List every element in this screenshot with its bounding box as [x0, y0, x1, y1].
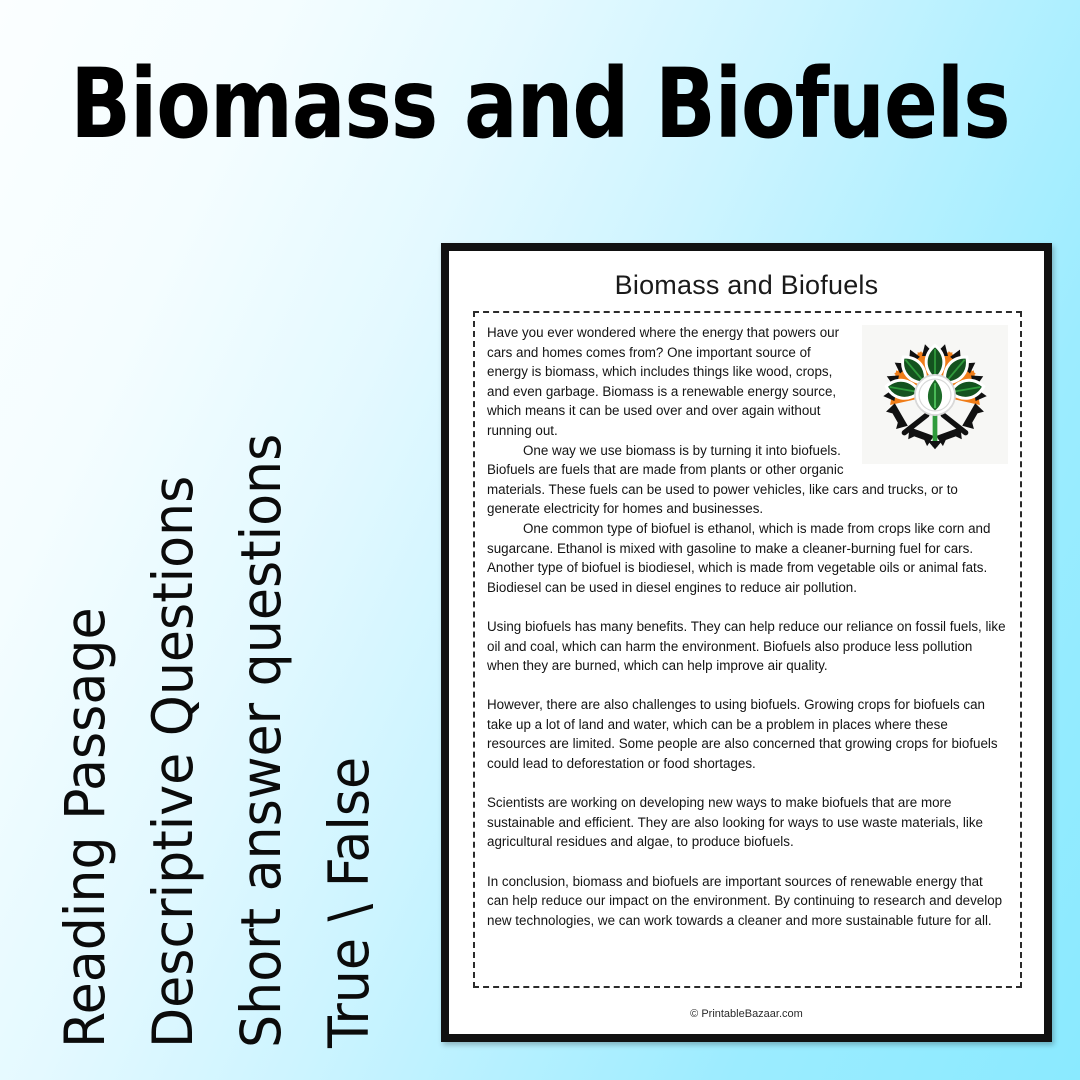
worksheet-footer-credit: © PrintableBazaar.com — [449, 1008, 1044, 1020]
reading-passage-box: Have you ever wondered where the energy … — [473, 311, 1022, 988]
worksheet-title: Biomass and Biofuels — [449, 268, 1044, 302]
side-label-true-false: True \ False — [316, 757, 381, 1048]
passage-paragraph: Using biofuels has many benefits. They c… — [487, 617, 1008, 676]
worksheet-page: Biomass and Biofuels — [441, 243, 1052, 1042]
side-label-descriptive-questions: Descriptive Questions — [140, 476, 205, 1048]
passage-paragraph: However, there are also challenges to us… — [487, 695, 1008, 773]
passage-text: Have you ever wondered where the energy … — [487, 323, 1008, 930]
biomass-bioenergy-emblem-icon — [862, 325, 1008, 464]
page-title: Biomass and Biofuels — [43, 52, 1037, 156]
passage-paragraph: One common type of biofuel is ethanol, w… — [487, 519, 1008, 597]
side-label-short-answer-questions: Short answer questions — [228, 434, 293, 1048]
passage-paragraph: Scientists are working on developing new… — [487, 793, 1008, 852]
side-label-reading-passage: Reading Passage — [52, 607, 117, 1048]
passage-paragraph: In conclusion, biomass and biofuels are … — [487, 872, 1008, 931]
poster-canvas: Biomass and Biofuels Reading Passage Des… — [0, 0, 1080, 1080]
